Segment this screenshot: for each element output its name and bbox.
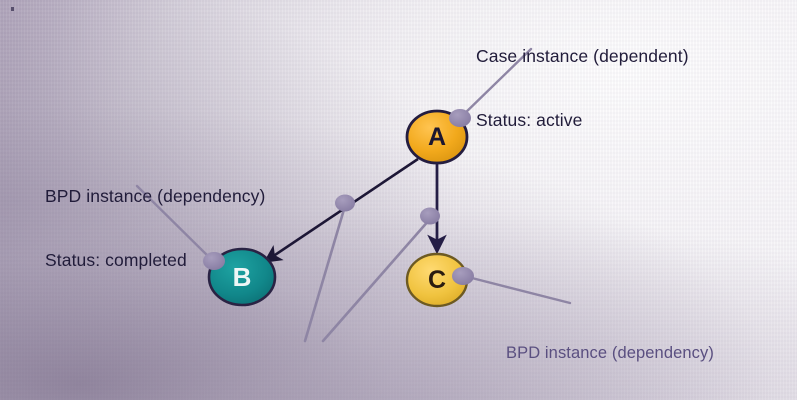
annotation-case-instance-line1: Case instance (dependent) [476, 46, 689, 67]
annotation-bpd-completed: BPD instance (dependency) Status: comple… [45, 143, 265, 314]
annotation-dependent-relationship: Dependent relationship [224, 344, 351, 400]
node-c-label: C [428, 266, 446, 294]
annotation-case-instance-line2: Status: active [476, 110, 689, 131]
leader-dependent-relationship-left [305, 206, 345, 341]
leader-bpd-active [464, 276, 570, 303]
node-a-anchor-dot [449, 109, 471, 127]
annotation-bpd-completed-line2: Status: completed [45, 250, 265, 271]
diagram-screenshot: B C A Case instance (dependent) Status: … [0, 0, 797, 400]
node-a-label: A [428, 123, 446, 151]
annotation-bpd-completed-line1: BPD instance (dependency) [45, 186, 265, 207]
annotation-dependent-relationship-line1: Dependent [224, 396, 351, 400]
node-c-anchor-dot [452, 267, 474, 285]
annotation-case-instance: Case instance (dependent) Status: active [476, 3, 689, 174]
annotation-bpd-active-line1: BPD instance (dependency) [506, 343, 714, 363]
edge-ab-midpoint-dot [335, 195, 355, 212]
annotation-bpd-active: BPD instance (dependency) Status: active [506, 303, 714, 400]
edge-ac-midpoint-dot [420, 208, 440, 225]
